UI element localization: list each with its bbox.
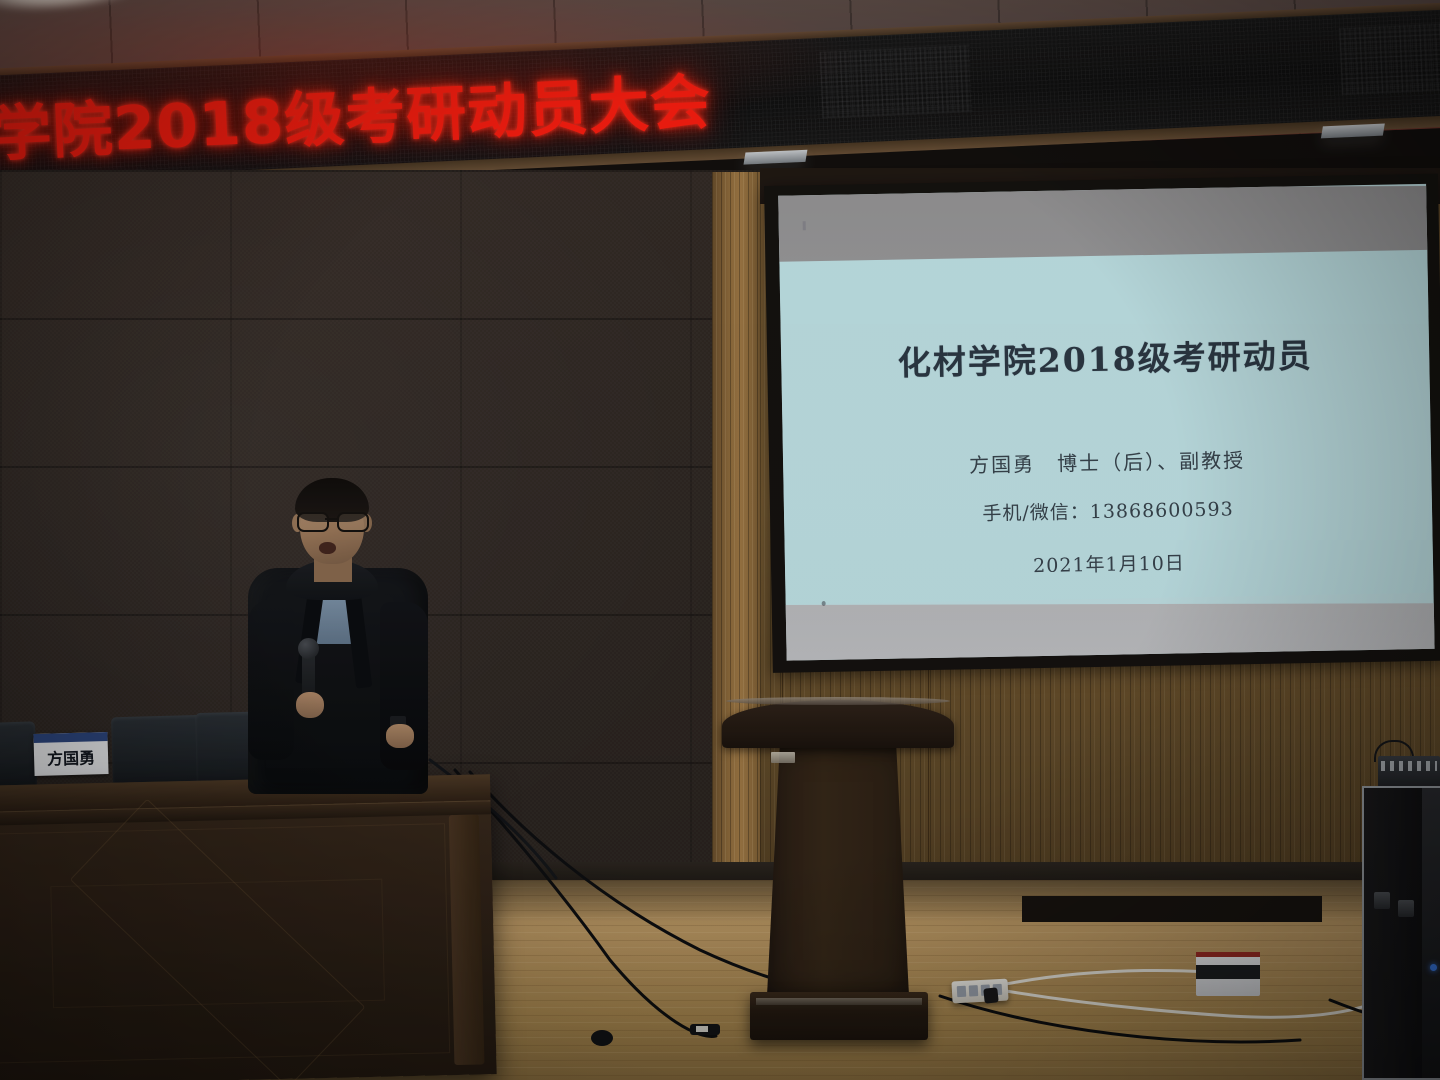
amplifier-top-stripe [1196,952,1260,957]
slide-date: 2021年1月10日 [785,544,1433,583]
presenter-hand-right [386,724,414,748]
chair [0,721,37,786]
amplifier-unit [1196,952,1260,996]
presenter [240,480,440,810]
name-card-header-bar [33,732,107,743]
stage-edge-shadow [1022,896,1322,922]
led-inactive-patch [820,45,973,118]
led-inactive-patch [1339,22,1440,95]
glasses-lens [337,512,369,532]
projection-screen: 化材学院2018级考研动员 方国勇 博士（后）、副教授 手机/微信：138686… [764,174,1440,673]
screen-dust-speck [822,601,826,606]
rack-power-led [1430,964,1437,971]
presenter-hand-with-mic [296,692,324,718]
glasses-icon [297,512,367,528]
table-corner-post [449,814,485,1065]
power-socket [969,985,979,996]
stage-table [0,774,497,1080]
projection-surface: 化材学院2018级考研动员 方国勇 博士（后）、副教授 手机/微信：138686… [778,184,1434,661]
podium-nameplate [771,752,795,763]
amplifier-front-panel [1196,965,1260,979]
slide-content: 化材学院2018级考研动员 方国勇 博士（后）、副教授 手机/微信：138686… [779,250,1433,583]
audio-rack-case [1362,786,1440,1080]
audio-mixer [1378,756,1440,790]
glasses-lens [297,512,329,532]
power-plug [983,987,998,1003]
rack-equipment-column [1422,788,1440,1078]
rack-latch [1374,892,1390,909]
slide-canvas: 化材学院2018级考研动员 方国勇 博士（后）、副教授 手机/微信：138686… [779,250,1433,605]
slide-letterbox-bottom [778,603,1434,661]
slide-presenter: 方国勇 博士（后）、副教授 [783,447,1431,479]
glasses-bridge [325,518,337,520]
slide-contact: 手机/微信：13868600593 [784,491,1432,530]
name-card-text: 方国勇 [34,744,109,770]
name-card: 方国勇 [33,732,108,776]
podium [722,700,954,1050]
downlight-icon [743,150,807,165]
presenter-mouth [319,542,336,554]
power-strip [951,979,1008,1004]
chair [111,715,209,790]
power-socket [957,986,967,997]
microphone-head [298,638,319,659]
lecture-hall-scene: 程学院2018级考研动员大会 化材学院2018级考研动员 方国勇 博士（后）、副… [0,0,1440,1080]
podium-desktop [722,700,954,748]
slide-title: 化材学院2018级考研动员 [781,327,1430,387]
podium-base-trim [756,998,922,1005]
downlight-icon [1321,124,1385,139]
presenter-left-arm [248,600,294,760]
rack-latch [1398,900,1414,917]
podium-base [750,992,928,1040]
podium-desktop-edge [726,697,950,705]
table-front-panel [0,823,450,1063]
podium-column [767,746,909,996]
screen-dust-speck [803,221,806,230]
mixer-knobs [1381,761,1437,771]
